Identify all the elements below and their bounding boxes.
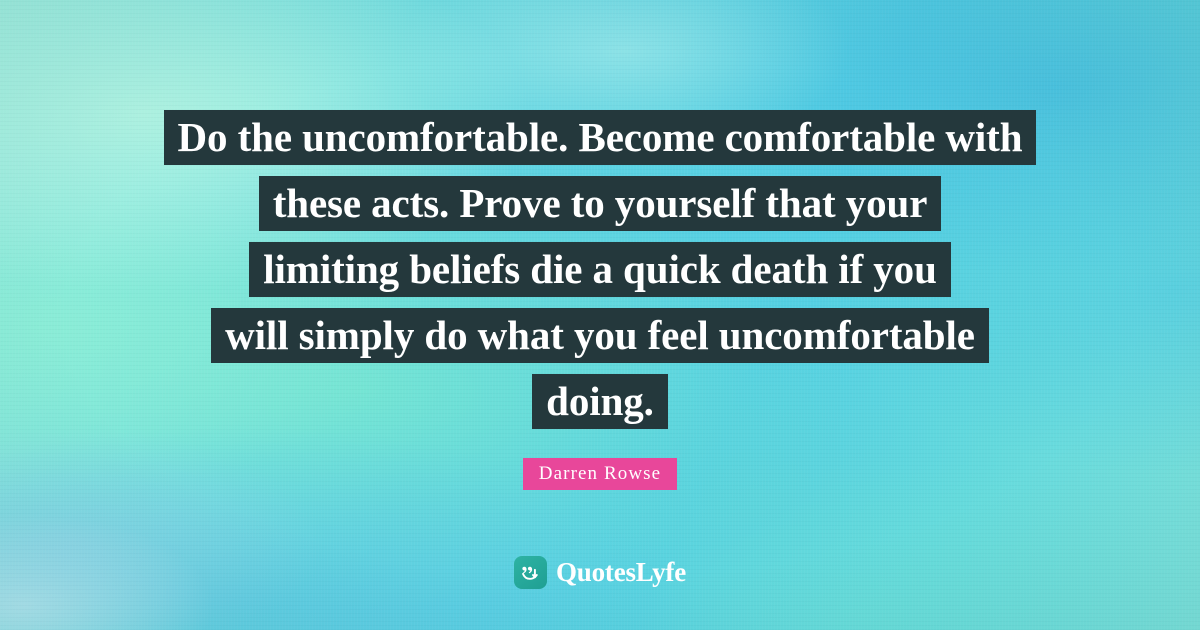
quote-line-text: Do the uncomfortable. Become comfortable… — [164, 110, 1037, 165]
author-name-badge: Darren Rowse — [523, 458, 677, 490]
quote-line: these acts. Prove to yourself that your — [0, 176, 1200, 231]
quote-line: limiting beliefs die a quick death if yo… — [0, 242, 1200, 297]
quote-line-text: doing. — [532, 374, 668, 429]
brand-logo[interactable]: QuotesLyfe — [0, 556, 1200, 589]
quote-smiley-icon — [514, 556, 547, 589]
quote-line-text: limiting beliefs die a quick death if yo… — [249, 242, 951, 297]
brand-name-text: QuotesLyfe — [556, 556, 686, 589]
quote-line-text: will simply do what you feel uncomfortab… — [211, 308, 989, 363]
quote-text-container: Do the uncomfortable. Become comfortable… — [0, 110, 1200, 440]
quote-line-text: these acts. Prove to yourself that your — [259, 176, 942, 231]
quote-line: Do the uncomfortable. Become comfortable… — [0, 110, 1200, 165]
quote-line: will simply do what you feel uncomfortab… — [0, 308, 1200, 363]
quote-poster: Do the uncomfortable. Become comfortable… — [0, 0, 1200, 630]
author-attribution-container: Darren Rowse — [0, 458, 1200, 490]
quote-line: doing. — [0, 374, 1200, 429]
